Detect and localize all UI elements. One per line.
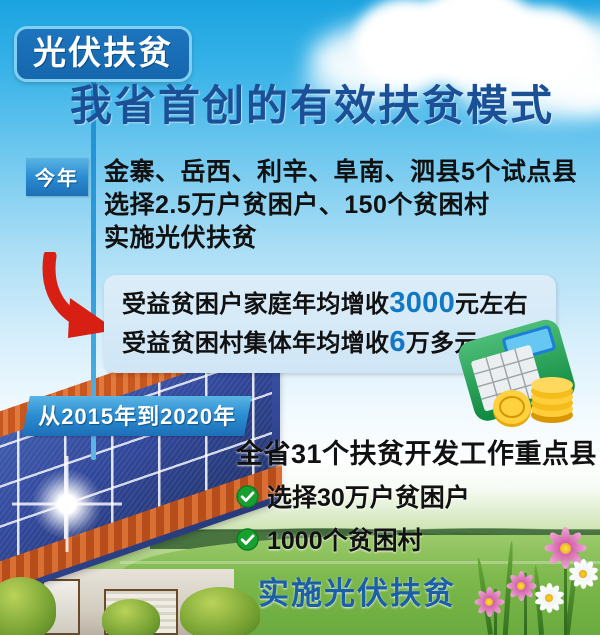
current-year-line-2: 选择2.5万户贫困户、150个贫困村 xyxy=(104,189,577,222)
callout-line-1-number: 3000 xyxy=(389,287,455,319)
list-item-label: 选择30万户贫困户 xyxy=(267,478,470,514)
range-headline: 全省31个扶贫开发工作重点县 xyxy=(236,432,592,471)
callout-line-2-pre: 受益贫困村集体年均增收 xyxy=(122,330,389,357)
calculator-coins-icon xyxy=(452,318,592,430)
poster-badge: 光伏扶贫 xyxy=(14,26,192,82)
section-tag-current-year-label: 今年 xyxy=(35,162,79,191)
callout-line-1-pre: 受益贫困户家庭年均增收 xyxy=(122,291,389,318)
green-check-icon xyxy=(236,485,259,508)
section-tag-current-year: 今年 xyxy=(26,158,88,196)
callout-line-1-post: 元左右 xyxy=(455,291,528,318)
range-section-content: 全省31个扶贫开发工作重点县 选择30万户贫困户 1000个贫困村 xyxy=(236,432,592,613)
infographic-poster: 光伏扶贫 我省首创的有效扶贫模式 今年 金寨、岳西、利辛、阜南、泗县5个试点县 … xyxy=(0,0,600,635)
range-closing-text: 实施光伏扶贫 xyxy=(258,568,592,613)
poster-badge-label: 光伏扶贫 xyxy=(33,35,173,71)
current-year-line-1: 金寨、岳西、利辛、阜南、泗县5个试点县 xyxy=(104,156,577,189)
list-item: 选择30万户贫困户 xyxy=(236,478,592,514)
current-year-line-3: 实施光伏扶贫 xyxy=(104,222,577,255)
callout-line-2-number: 6 xyxy=(389,326,405,358)
section-tag-date-range-label: 从2015年到2020年 xyxy=(38,399,236,431)
list-item-label: 1000个贫困村 xyxy=(267,521,423,557)
section-tag-date-range: 从2015年到2020年 xyxy=(22,396,252,436)
list-item: 1000个贫困村 xyxy=(236,521,592,557)
green-check-icon xyxy=(236,528,259,551)
current-year-lines: 金寨、岳西、利辛、阜南、泗县5个试点县 选择2.5万户贫困户、150个贫困村 实… xyxy=(104,156,577,255)
page-title: 我省首创的有效扶贫模式 xyxy=(70,82,590,129)
